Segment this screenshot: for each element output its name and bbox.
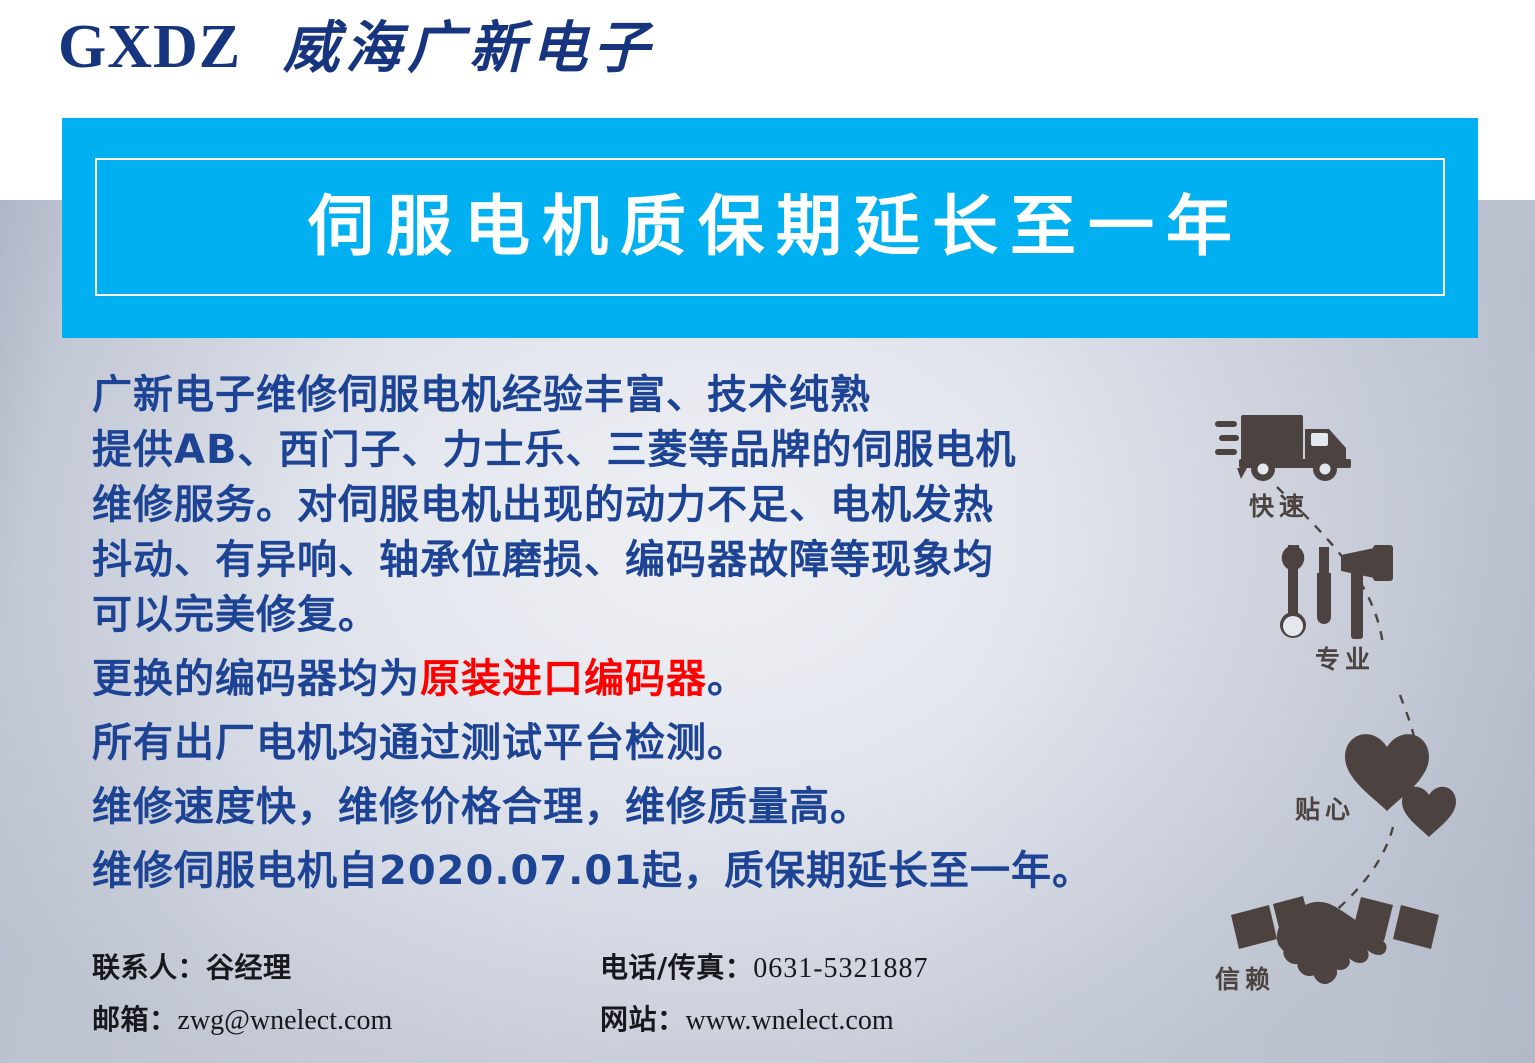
contact-phone: 电话/传真：0631-5321887 — [600, 946, 1122, 986]
encoder-highlight: 原装进口编码器 — [420, 656, 707, 702]
contact-email-label: 邮箱： — [92, 1003, 178, 1036]
feature-label-fast: 快速 — [1249, 487, 1309, 523]
contact-website: 网站：www.wnelect.com — [600, 998, 1122, 1038]
company-logo: GXDZ 威海广新电子 — [58, 16, 655, 78]
feature-label-professional: 专业 — [1315, 640, 1375, 676]
body-copy: 广新电子维修伺服电机经验丰富、技术纯熟 提供AB、西门子、力士乐、三菱等品牌的伺… — [92, 368, 1192, 899]
feature-icons: 快速 专业 贴心 信赖 — [1215, 395, 1515, 1015]
contact-person-value: 谷经理 — [206, 951, 292, 984]
contact-block: 联系人：谷经理 电话/传真：0631-5321887 邮箱：zwg@wnelec… — [92, 946, 1122, 1038]
banner-title: 伺服电机质保期延长至一年 — [296, 194, 1244, 260]
copy-quality-line: 维修速度快，维修价格合理，维修质量高。 — [92, 780, 1192, 835]
delivery-truck-icon — [1215, 415, 1351, 481]
copy-line-5: 可以完美修复。 — [92, 588, 1192, 643]
contact-email-value: zwg@wnelect.com — [178, 1005, 393, 1036]
contact-person: 联系人：谷经理 — [92, 946, 600, 986]
contact-email: 邮箱：zwg@wnelect.com — [92, 998, 600, 1038]
logo-company-name: 威海广新电子 — [283, 20, 655, 76]
copy-warranty-line: 维修伺服电机自2020.07.01起，质保期延长至一年。 — [92, 844, 1192, 899]
contact-phone-label: 电话/传真： — [600, 951, 753, 984]
hearts-icon — [1345, 734, 1456, 837]
copy-test-line: 所有出厂电机均通过测试平台检测。 — [92, 716, 1192, 771]
copy-line-4: 抖动、有异响、轴承位磨损、编码器故障等现象均 — [92, 533, 1192, 588]
feature-label-trust: 信赖 — [1215, 960, 1275, 996]
contact-website-label: 网站： — [600, 1003, 686, 1036]
encoder-prefix: 更换的编码器均为 — [92, 656, 420, 702]
copy-line-3: 维修服务。对伺服电机出现的动力不足、电机发热 — [92, 478, 1192, 533]
copy-line-1: 广新电子维修伺服电机经验丰富、技术纯熟 — [92, 368, 1192, 423]
copy-line-2: 提供AB、西门子、力士乐、三菱等品牌的伺服电机 — [92, 423, 1192, 478]
headline-banner: 伺服电机质保期延长至一年 — [62, 118, 1478, 338]
poster-canvas: GXDZ 威海广新电子 伺服电机质保期延长至一年 广新电子维修伺服电机经验丰富、… — [0, 0, 1535, 1063]
encoder-suffix: 。 — [707, 656, 748, 702]
contact-phone-value: 0631-5321887 — [753, 953, 928, 984]
contact-website-value: www.wnelect.com — [686, 1005, 894, 1036]
banner-inner-frame: 伺服电机质保期延长至一年 — [95, 158, 1445, 296]
copy-encoder-line: 更换的编码器均为原装进口编码器。 — [92, 652, 1192, 707]
contact-person-label: 联系人： — [92, 951, 206, 984]
logo-abbreviation: GXDZ — [58, 16, 241, 78]
tools-icon — [1280, 545, 1393, 639]
feature-label-considerate: 贴心 — [1295, 790, 1355, 826]
